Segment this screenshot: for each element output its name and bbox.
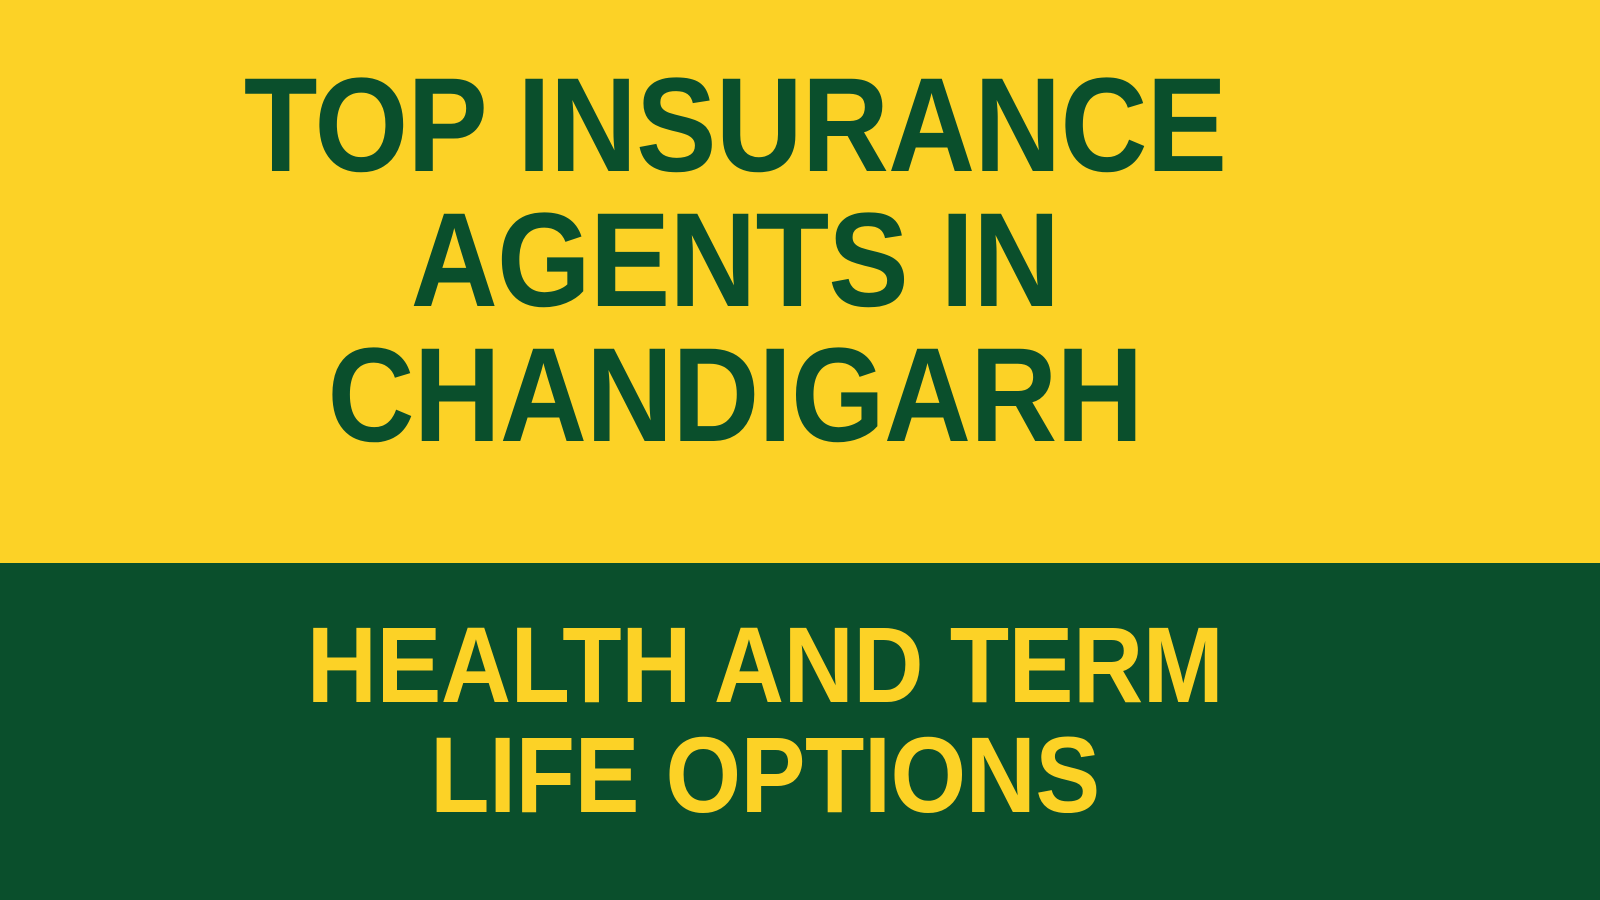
page-title: TOP INSURANCE AGENTS IN CHANDIGARH [74, 58, 1397, 463]
headline-line-2: AGENTS IN [74, 193, 1397, 328]
subheadline-line-2: LIFE OPTIONS [77, 720, 1454, 830]
poster-canvas: TOP INSURANCE AGENTS IN CHANDIGARH HEALT… [0, 0, 1600, 900]
subheadline-band: HEALTH AND TERM LIFE OPTIONS [0, 563, 1600, 900]
headline-line-1: TOP INSURANCE [74, 58, 1397, 193]
subheadline-line-1: HEALTH AND TERM [77, 610, 1454, 720]
page-subtitle: HEALTH AND TERM LIFE OPTIONS [77, 610, 1454, 830]
headline-line-3: CHANDIGARH [74, 328, 1397, 463]
headline-band: TOP INSURANCE AGENTS IN CHANDIGARH [0, 0, 1600, 563]
